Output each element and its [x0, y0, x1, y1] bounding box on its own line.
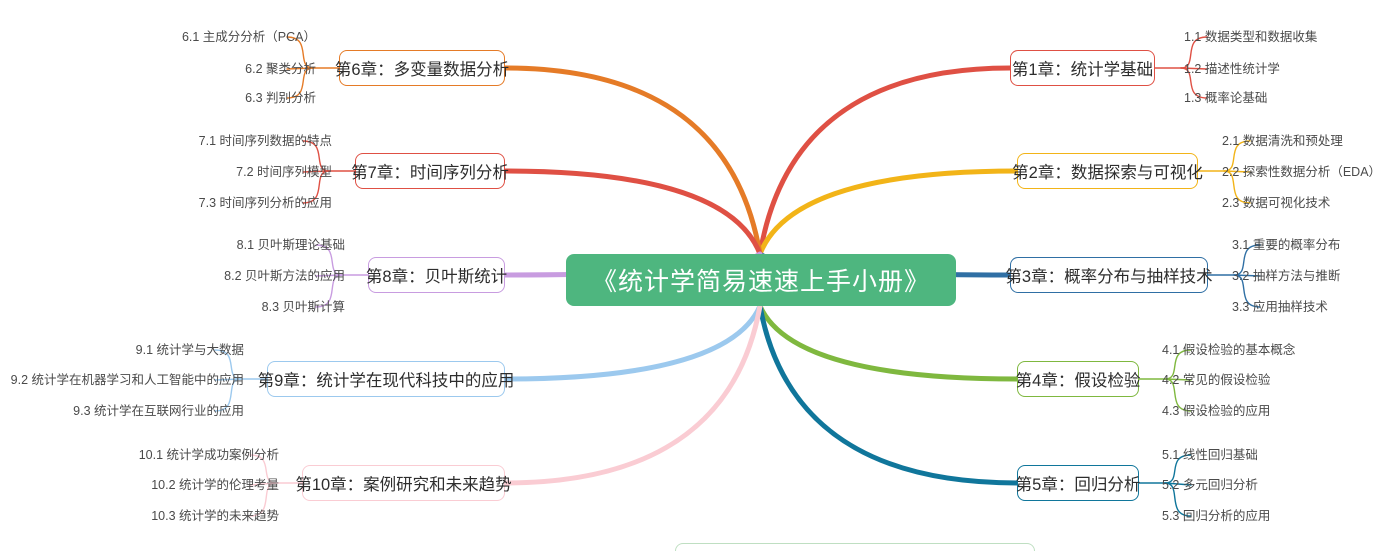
leaf-node-ch7-1[interactable]: 7.1 时间序列数据的特点 — [199, 133, 332, 149]
chapter-node-label: 第2章：数据探索与可视化 — [1012, 159, 1203, 183]
chapter-node-label: 第3章：概率分布与抽样技术 — [1005, 263, 1212, 287]
central-topic-node[interactable]: 《统计学简易速速上手小册》 — [566, 254, 956, 306]
leaf-node-ch6-1[interactable]: 6.1 主成分分析（PCA） — [182, 29, 316, 45]
leaf-node-ch1-2[interactable]: 1.2 描述性统计学 — [1184, 61, 1280, 77]
leaf-node-ch5-1[interactable]: 5.1 线性回归基础 — [1162, 447, 1258, 463]
leaf-node-ch7-3[interactable]: 7.3 时间序列分析的应用 — [199, 195, 332, 211]
chapter-node-ch4[interactable]: 第4章：假设检验 — [1017, 361, 1139, 397]
central-topic-label: 《统计学简易速速上手小册》 — [592, 262, 930, 298]
leaf-node-ch10-1[interactable]: 10.1 统计学成功案例分析 — [139, 447, 279, 463]
leaf-node-ch6-3[interactable]: 6.3 判别分析 — [245, 90, 316, 106]
branch-curve-ch7 — [505, 171, 760, 254]
chapter-node-ch10[interactable]: 第10章：案例研究和未来趋势 — [302, 465, 505, 501]
chapter-node-ch7[interactable]: 第7章：时间序列分析 — [355, 153, 505, 189]
leaf-node-ch9-1[interactable]: 9.1 统计学与大数据 — [136, 342, 244, 358]
leaf-node-ch10-3[interactable]: 10.3 统计学的未来趋势 — [151, 508, 279, 524]
branch-curve-ch9 — [505, 306, 760, 379]
chapter-node-ch2[interactable]: 第2章：数据探索与可视化 — [1017, 153, 1198, 189]
chapter-node-label: 第1章：统计学基础 — [1012, 56, 1153, 80]
leaf-node-ch8-3[interactable]: 8.3 贝叶斯计算 — [262, 299, 345, 315]
leaf-node-ch7-2[interactable]: 7.2 时间序列模型 — [236, 164, 332, 180]
chapter-node-ch5[interactable]: 第5章：回归分析 — [1017, 465, 1139, 501]
mindmap-canvas: 《统计学简易速速上手小册》 第1章：统计学基础第2章：数据探索与可视化第3章：概… — [0, 0, 1400, 551]
leaf-node-ch1-1[interactable]: 1.1 数据类型和数据收集 — [1184, 29, 1317, 45]
chapter-node-ch6[interactable]: 第6章：多变量数据分析 — [339, 50, 505, 86]
chapter-node-ch1[interactable]: 第1章：统计学基础 — [1010, 50, 1155, 86]
chapter-node-label: 第7章：时间序列分析 — [351, 159, 509, 183]
chapter-node-ch9[interactable]: 第9章：统计学在现代科技中的应用 — [267, 361, 505, 397]
chapter-node-label: 第8章：贝叶斯统计 — [366, 263, 507, 287]
branch-curve-ch2 — [760, 171, 1017, 254]
leaf-node-ch2-1[interactable]: 2.1 数据清洗和预处理 — [1222, 133, 1343, 149]
leaf-node-ch3-2[interactable]: 3.2 抽样方法与推断 — [1232, 268, 1340, 284]
chapter-node-label: 第4章：假设检验 — [1016, 367, 1141, 391]
branch-curve-ch6 — [505, 68, 760, 254]
leaf-node-ch9-2[interactable]: 9.2 统计学在机器学习和人工智能中的应用 — [11, 372, 244, 388]
chapter-node-label: 第6章：多变量数据分析 — [335, 56, 509, 80]
leaf-node-ch8-1[interactable]: 8.1 贝叶斯理论基础 — [237, 237, 345, 253]
chapter-node-ch8[interactable]: 第8章：贝叶斯统计 — [368, 257, 505, 293]
branch-curve-ch1 — [760, 68, 1010, 254]
leaf-node-ch8-2[interactable]: 8.2 贝叶斯方法的应用 — [224, 268, 345, 284]
leaf-node-ch10-2[interactable]: 10.2 统计学的伦理考量 — [151, 477, 279, 493]
leaf-node-ch4-3[interactable]: 4.3 假设检验的应用 — [1162, 403, 1270, 419]
leaf-node-ch2-2[interactable]: 2.2 探索性数据分析（EDA） — [1222, 164, 1381, 180]
leaf-node-ch3-1[interactable]: 3.1 重要的概率分布 — [1232, 237, 1340, 253]
leaf-node-ch4-1[interactable]: 4.1 假设检验的基本概念 — [1162, 342, 1295, 358]
chapter-node-label: 第5章：回归分析 — [1016, 471, 1141, 495]
leaf-node-ch2-3[interactable]: 2.3 数据可视化技术 — [1222, 195, 1330, 211]
leaf-node-ch4-2[interactable]: 4.2 常见的假设检验 — [1162, 372, 1270, 388]
leaf-node-ch5-2[interactable]: 5.2 多元回归分析 — [1162, 477, 1258, 493]
leaf-node-ch1-3[interactable]: 1.3 概率论基础 — [1184, 90, 1267, 106]
leaf-node-ch3-3[interactable]: 3.3 应用抽样技术 — [1232, 299, 1328, 315]
chapter-node-ch3[interactable]: 第3章：概率分布与抽样技术 — [1010, 257, 1208, 293]
chapter-node-label: 第10章：案例研究和未来趋势 — [295, 471, 511, 495]
leaf-node-ch6-2[interactable]: 6.2 聚类分析 — [245, 61, 316, 77]
cut-off-node-top-edge — [675, 543, 1035, 551]
leaf-node-ch5-3[interactable]: 5.3 回归分析的应用 — [1162, 508, 1270, 524]
branch-curve-ch4 — [760, 306, 1017, 379]
branch-curve-ch10 — [505, 306, 760, 483]
chapter-node-label: 第9章：统计学在现代科技中的应用 — [258, 367, 515, 391]
leaf-node-ch9-3[interactable]: 9.3 统计学在互联网行业的应用 — [73, 403, 244, 419]
branch-curve-ch5 — [760, 306, 1017, 483]
